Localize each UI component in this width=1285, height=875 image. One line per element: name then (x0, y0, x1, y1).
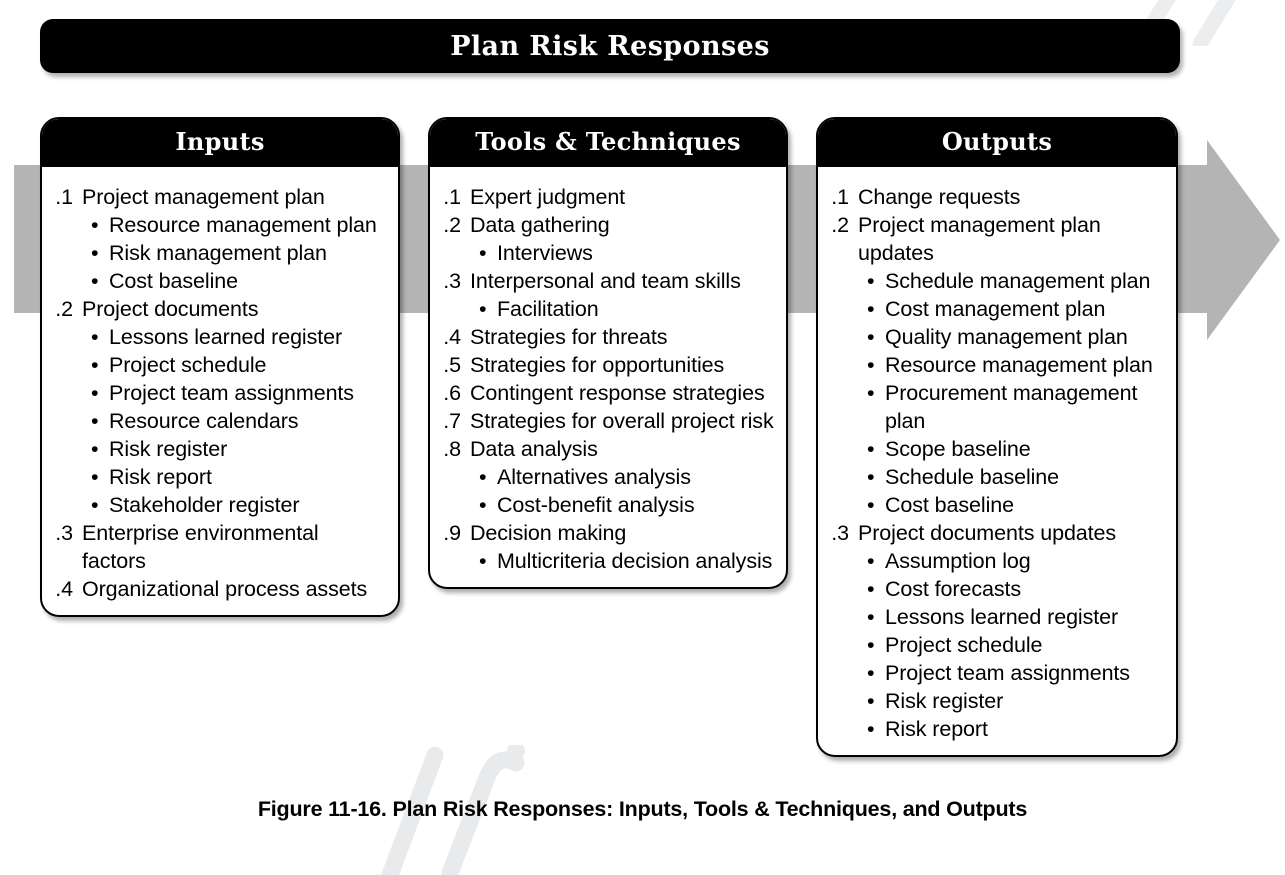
itto-bullet-label: Facilitation (497, 295, 776, 323)
itto-item-label: Enterprise environmental factors (82, 519, 388, 575)
bullet-icon: • (479, 295, 497, 323)
itto-bullet-label: Risk management plan (109, 239, 388, 267)
bullet-icon: • (479, 491, 497, 519)
bullet-icon: • (867, 491, 885, 519)
itto-item-label: Project documents (82, 295, 388, 323)
itto-bullet-label: Quality management plan (885, 323, 1166, 351)
itto-item-number: .2 (440, 211, 470, 239)
itto-bullet-item: •Schedule management plan (828, 267, 1166, 295)
itto-body-inputs: .1Project management plan•Resource manag… (42, 167, 398, 615)
itto-bullet-item: •Risk report (52, 463, 388, 491)
itto-bullet-label: Scope baseline (885, 435, 1166, 463)
bullet-icon: • (479, 239, 497, 267)
bullet-icon: • (91, 239, 109, 267)
bullet-icon: • (867, 295, 885, 323)
bullet-icon: • (867, 631, 885, 659)
itto-bullet-label: Stakeholder register (109, 491, 388, 519)
itto-bullet-label: Cost management plan (885, 295, 1166, 323)
itto-numbered-item: .9Decision making (440, 519, 776, 547)
itto-bullet-item: •Facilitation (440, 295, 776, 323)
itto-bullet-label: Project team assignments (109, 379, 388, 407)
itto-body-outputs: .1Change requests.2Project management pl… (818, 167, 1176, 755)
bullet-icon: • (91, 491, 109, 519)
bullet-icon: • (867, 715, 885, 743)
itto-item-label: Data analysis (470, 435, 776, 463)
itto-bullet-item: •Project team assignments (52, 379, 388, 407)
itto-bullet-item: •Resource management plan (52, 211, 388, 239)
itto-numbered-item: .1Expert judgment (440, 183, 776, 211)
itto-bullet-label: Assumption log (885, 547, 1166, 575)
itto-bullet-label: Alternatives analysis (497, 463, 776, 491)
itto-item-label: Decision making (470, 519, 776, 547)
itto-bullet-item: •Cost forecasts (828, 575, 1166, 603)
itto-header-outputs: Outputs (816, 117, 1178, 167)
itto-bullet-label: Cost forecasts (885, 575, 1166, 603)
itto-bullet-item: •Multicriteria decision analysis (440, 547, 776, 575)
itto-numbered-item: .3Enterprise environmental factors (52, 519, 388, 575)
bullet-icon: • (91, 435, 109, 463)
bullet-icon: • (867, 323, 885, 351)
bullet-icon: • (91, 407, 109, 435)
itto-bullet-item: •Lessons learned register (52, 323, 388, 351)
itto-bullet-item: •Stakeholder register (52, 491, 388, 519)
itto-bullet-label: Cost-benefit analysis (497, 491, 776, 519)
bullet-icon: • (479, 547, 497, 575)
itto-bullet-item: •Schedule baseline (828, 463, 1166, 491)
bullet-icon: • (91, 323, 109, 351)
itto-header-label-outputs: Outputs (942, 127, 1052, 156)
itto-numbered-item: .4Organizational process assets (52, 575, 388, 603)
itto-item-label: Expert judgment (470, 183, 776, 211)
itto-numbered-item: .2Data gathering (440, 211, 776, 239)
itto-box-outputs: Outputs .1Change requests.2Project manag… (816, 117, 1178, 757)
itto-item-label: Strategies for overall project risk (470, 407, 776, 435)
itto-header-tools: Tools & Techniques (428, 117, 788, 167)
itto-box-tools: Tools & Techniques .1Expert judgment.2Da… (428, 117, 788, 589)
itto-bullet-label: Schedule baseline (885, 463, 1166, 491)
itto-body-tools: .1Expert judgment.2Data gathering•Interv… (430, 167, 786, 587)
itto-bullet-item: •Lessons learned register (828, 603, 1166, 631)
itto-bullet-item: •Risk report (828, 715, 1166, 743)
bullet-icon: • (91, 463, 109, 491)
itto-bullet-label: Resource calendars (109, 407, 388, 435)
itto-item-number: .3 (52, 519, 82, 547)
itto-item-number: .3 (828, 519, 858, 547)
itto-item-number: .2 (52, 295, 82, 323)
itto-bullet-label: Procurement management plan (885, 379, 1166, 435)
itto-bullet-item: •Project schedule (52, 351, 388, 379)
itto-item-number: .1 (828, 183, 858, 211)
itto-bullet-item: •Cost-benefit analysis (440, 491, 776, 519)
bullet-icon: • (867, 463, 885, 491)
bullet-icon: • (479, 463, 497, 491)
itto-bullet-label: Lessons learned register (109, 323, 388, 351)
itto-header-label-tools: Tools & Techniques (475, 127, 741, 156)
itto-bullet-item: •Risk register (52, 435, 388, 463)
itto-bullet-label: Project schedule (885, 631, 1166, 659)
itto-bullet-label: Risk report (109, 463, 388, 491)
itto-numbered-item: .3Project documents updates (828, 519, 1166, 547)
itto-numbered-item: .1Project management plan (52, 183, 388, 211)
bullet-icon: • (867, 351, 885, 379)
itto-numbered-item: .5Strategies for opportunities (440, 351, 776, 379)
itto-bullet-label: Cost baseline (885, 491, 1166, 519)
itto-numbered-item: .2Project documents (52, 295, 388, 323)
itto-bullet-label: Project team assignments (885, 659, 1166, 687)
bullet-icon: • (867, 575, 885, 603)
itto-bullet-item: •Risk register (828, 687, 1166, 715)
itto-bullet-label: Schedule management plan (885, 267, 1166, 295)
itto-item-number: .4 (52, 575, 82, 603)
bullet-icon: • (91, 351, 109, 379)
itto-numbered-item: .4Strategies for threats (440, 323, 776, 351)
itto-bullet-item: •Cost management plan (828, 295, 1166, 323)
itto-bullet-label: Cost baseline (109, 267, 388, 295)
itto-item-label: Strategies for threats (470, 323, 776, 351)
bullet-icon: • (867, 435, 885, 463)
itto-item-label: Project management plan (82, 183, 388, 211)
itto-item-number: .8 (440, 435, 470, 463)
bullet-icon: • (867, 659, 885, 687)
itto-bullet-label: Multicriteria decision analysis (497, 547, 776, 575)
itto-bullet-item: •Alternatives analysis (440, 463, 776, 491)
bullet-icon: • (867, 267, 885, 295)
itto-item-number: .1 (52, 183, 82, 211)
itto-header-label-inputs: Inputs (175, 127, 264, 156)
itto-item-label: Organizational process assets (82, 575, 388, 603)
itto-item-label: Strategies for opportunities (470, 351, 776, 379)
itto-bullet-label: Project schedule (109, 351, 388, 379)
arrow-head-right (1176, 140, 1280, 340)
itto-bullet-item: •Resource management plan (828, 351, 1166, 379)
itto-bullet-item: •Resource calendars (52, 407, 388, 435)
itto-numbered-item: .8Data analysis (440, 435, 776, 463)
itto-item-number: .3 (440, 267, 470, 295)
process-title: Plan Risk Responses (450, 31, 770, 62)
itto-bullet-label: Risk register (885, 687, 1166, 715)
itto-item-label: Interpersonal and team skills (470, 267, 776, 295)
bullet-icon: • (91, 379, 109, 407)
itto-numbered-item: .1Change requests (828, 183, 1166, 211)
itto-header-inputs: Inputs (40, 117, 400, 167)
bullet-icon: • (91, 267, 109, 295)
itto-item-number: .5 (440, 351, 470, 379)
bullet-icon: • (867, 547, 885, 575)
itto-bullet-label: Resource management plan (885, 351, 1166, 379)
itto-bullet-item: •Risk management plan (52, 239, 388, 267)
itto-item-number: .2 (828, 211, 858, 239)
itto-item-label: Data gathering (470, 211, 776, 239)
itto-item-number: .4 (440, 323, 470, 351)
itto-bullet-item: •Procurement management plan (828, 379, 1166, 435)
bullet-icon: • (91, 211, 109, 239)
bullet-icon: • (867, 603, 885, 631)
bullet-icon: • (867, 379, 885, 407)
itto-item-number: .7 (440, 407, 470, 435)
process-title-bar: Plan Risk Responses (40, 19, 1180, 73)
itto-item-label: Project documents updates (858, 519, 1166, 547)
itto-item-label: Project management plan updates (858, 211, 1166, 267)
itto-numbered-item: .3Interpersonal and team skills (440, 267, 776, 295)
itto-numbered-item: .2Project management plan updates (828, 211, 1166, 267)
itto-item-number: .6 (440, 379, 470, 407)
itto-item-label: Contingent response strategies (470, 379, 776, 407)
figure-caption: Figure 11-16. Plan Risk Responses: Input… (0, 797, 1285, 822)
itto-bullet-item: •Scope baseline (828, 435, 1166, 463)
itto-bullet-item: •Cost baseline (52, 267, 388, 295)
itto-bullet-label: Risk report (885, 715, 1166, 743)
bullet-icon: • (867, 687, 885, 715)
itto-numbered-item: .7Strategies for overall project risk (440, 407, 776, 435)
itto-box-inputs: Inputs .1Project management plan•Resourc… (40, 117, 400, 617)
itto-numbered-item: .6Contingent response strategies (440, 379, 776, 407)
itto-bullet-label: Resource management plan (109, 211, 388, 239)
itto-item-number: .1 (440, 183, 470, 211)
itto-bullet-item: •Project schedule (828, 631, 1166, 659)
itto-bullet-item: •Interviews (440, 239, 776, 267)
itto-item-number: .9 (440, 519, 470, 547)
itto-bullet-item: •Quality management plan (828, 323, 1166, 351)
itto-bullet-label: Lessons learned register (885, 603, 1166, 631)
itto-bullet-item: •Cost baseline (828, 491, 1166, 519)
itto-item-label: Change requests (858, 183, 1166, 211)
itto-bullet-label: Interviews (497, 239, 776, 267)
itto-bullet-label: Risk register (109, 435, 388, 463)
itto-bullet-item: •Assumption log (828, 547, 1166, 575)
itto-bullet-item: •Project team assignments (828, 659, 1166, 687)
